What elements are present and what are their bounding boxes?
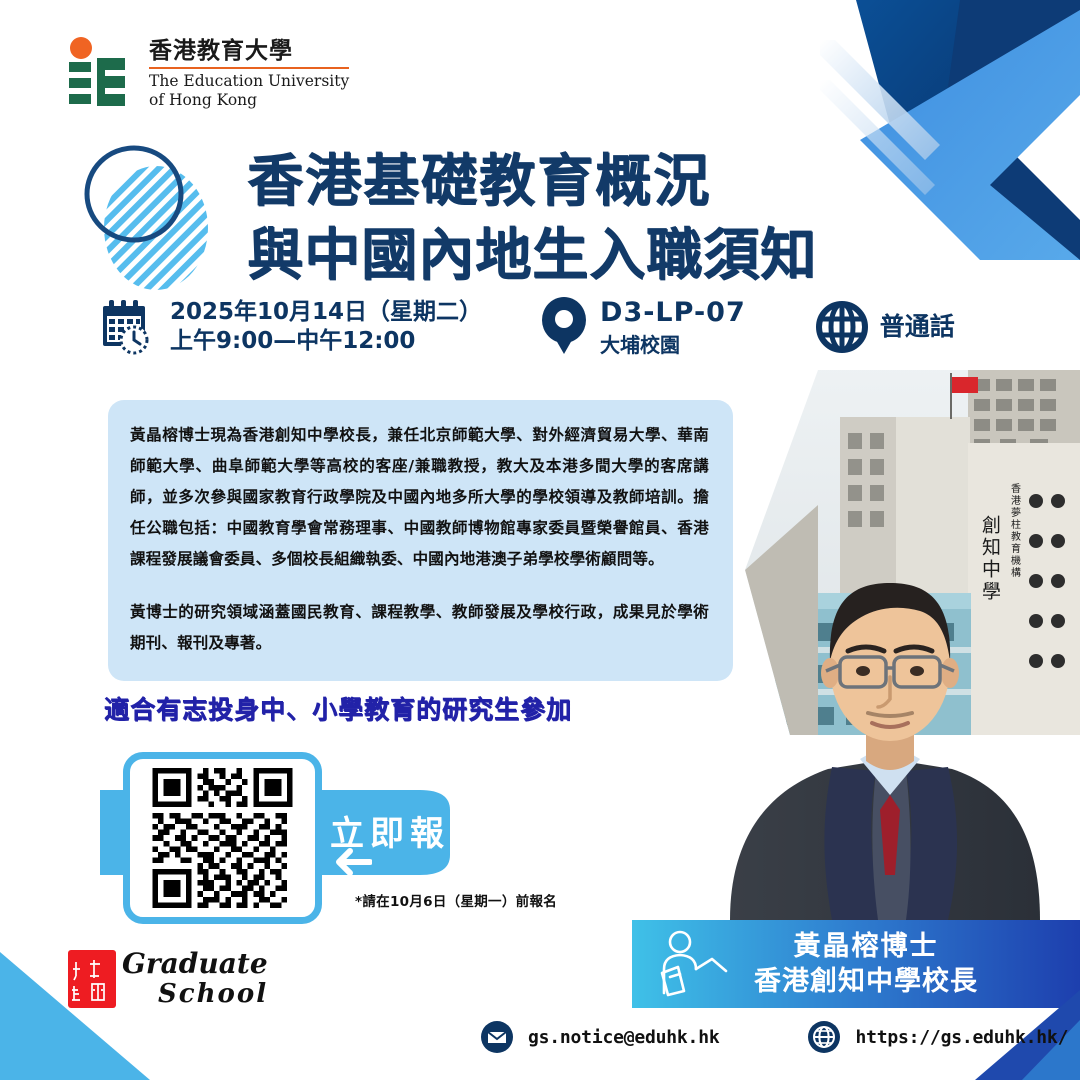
map-pin-icon — [540, 296, 588, 358]
title-line-2: 與中國內地生入職須知 — [247, 219, 947, 293]
event-venue: D3-LP-07 大埔校園 — [540, 296, 746, 358]
logo-chinese-name: 香港教育大學 — [149, 38, 349, 64]
event-info-bar: 2025年10月14日（星期二） 上午9:00—中午12:00 D3-LP-07… — [96, 296, 955, 358]
event-date: 2025年10月14日（星期二） — [170, 298, 482, 327]
footer-contacts: gs.notice@eduhk.hk https://gs.eduhk.hk/ — [480, 1020, 1068, 1054]
registration-qr-frame[interactable] — [123, 752, 322, 924]
circle-stripes-decoration-icon — [78, 136, 218, 296]
email-address: gs.notice@eduhk.hk — [528, 1027, 719, 1048]
presenter-icon — [654, 929, 732, 999]
logo-english-line1: The Education University — [149, 72, 349, 91]
eduhk-logo-mark-icon — [63, 36, 135, 114]
globe-icon — [807, 1020, 841, 1054]
event-language: 普通話 — [816, 301, 955, 353]
globe-icon — [816, 301, 868, 353]
envelope-icon — [480, 1020, 514, 1054]
title-line-1: 香港基礎教育概況 — [247, 145, 947, 219]
registration-deadline-note: *請在10月6日（星期一）前報名 — [355, 890, 557, 910]
speaker-portrait — [700, 355, 1080, 935]
event-time: 上午9:00—中午12:00 — [170, 327, 482, 356]
target-audience-note: 適合有志投身中、小學教育的研究生參加 — [104, 690, 572, 726]
logo-english-line2: of Hong Kong — [149, 91, 349, 110]
arrow-left-icon — [332, 845, 372, 879]
website-url: https://gs.eduhk.hk/ — [855, 1027, 1068, 1048]
event-datetime: 2025年10月14日（星期二） 上午9:00—中午12:00 — [96, 296, 482, 358]
poster-canvas: 香港教育大學 The Education University of Hong … — [0, 0, 1080, 1080]
bio-paragraph-1: 黃晶榕博士現為香港創知中學校長，兼任北京師範大學、對外經濟貿易大學、華南師範大學… — [130, 420, 709, 575]
speaker-name: 黃晶榕博士 — [754, 929, 978, 964]
contact-website[interactable]: https://gs.eduhk.hk/ — [807, 1020, 1068, 1054]
venue-room: D3-LP-07 — [600, 296, 746, 331]
bottom-left-triangle-decoration — [0, 930, 230, 1080]
registration-qr-code[interactable] — [139, 768, 306, 908]
contact-email[interactable]: gs.notice@eduhk.hk — [480, 1020, 719, 1054]
calendar-clock-icon — [96, 296, 158, 358]
speaker-biography-box: 黃晶榕博士現為香港創知中學校長，兼任北京師範大學、對外經濟貿易大學、華南師範大學… — [108, 400, 733, 681]
language-label: 普通話 — [880, 311, 955, 343]
bio-paragraph-2: 黃博士的研究領域涵蓋國民教育、課程教學、教師發展及學校行政，成果見於學術期刊、報… — [130, 597, 709, 659]
eduhk-logo: 香港教育大學 The Education University of Hong … — [63, 36, 349, 114]
speaker-photo-composition: 創知中學 香港夢柱教育機構 — [700, 355, 1080, 935]
poster-title: 香港基礎教育概況 與中國內地生入職須知 — [247, 145, 947, 294]
logo-divider — [149, 67, 349, 69]
